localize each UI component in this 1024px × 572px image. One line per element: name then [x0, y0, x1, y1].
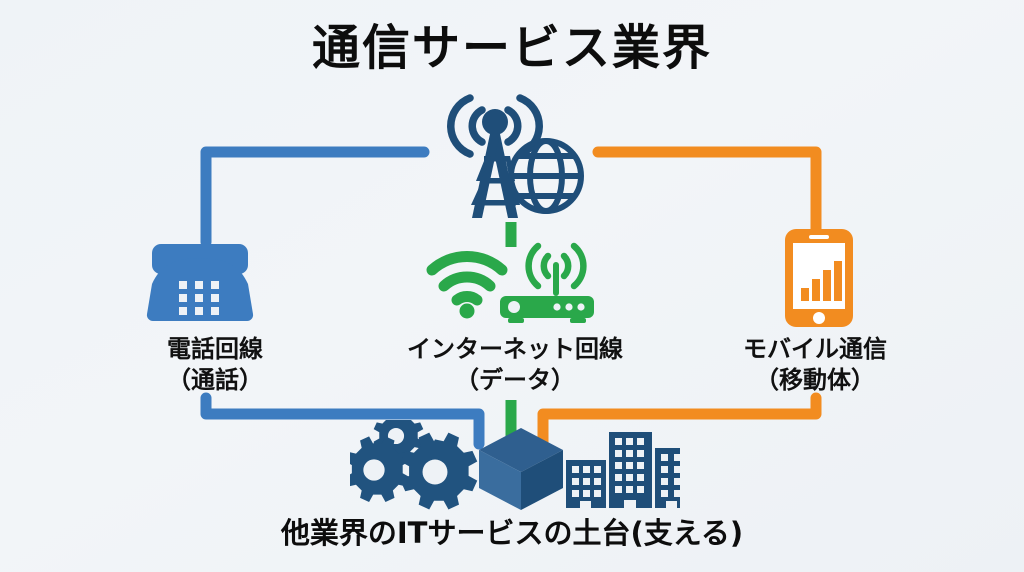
infographic-canvas: 通信サービス業界	[0, 0, 1024, 572]
connector-hub-to-telephone	[206, 152, 424, 242]
wifi-router-icon	[424, 232, 600, 328]
node-label-internet: インターネット回線 （データ）	[330, 334, 700, 395]
cube-icon	[479, 428, 563, 510]
node-label-telephone: 電話回線 （通話）	[60, 334, 370, 395]
node-label-mobile: モバイル通信 （移動体）	[660, 334, 970, 395]
node-label-foundation: 他業界のITサービスの土台(支える)	[0, 510, 1024, 552]
radio-tower-globe-icon	[424, 86, 588, 226]
desk-telephone-icon	[144, 236, 256, 326]
gears-cube-buildings-icon	[350, 420, 680, 510]
smartphone-signal-icon	[782, 226, 856, 330]
gears-group	[350, 420, 477, 509]
